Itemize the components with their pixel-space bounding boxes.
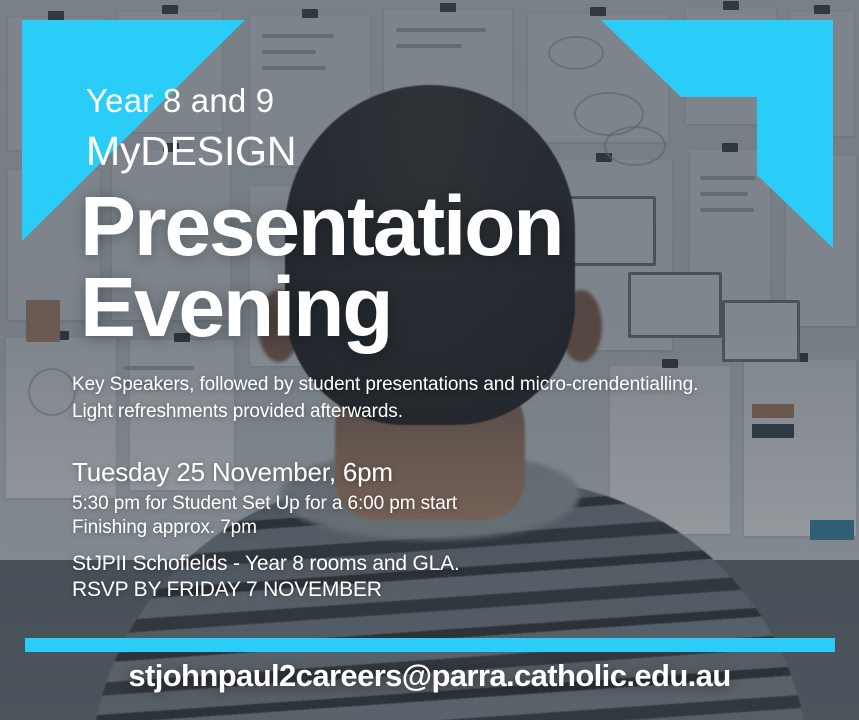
program-brand: MyDESIGN bbox=[86, 131, 296, 172]
poster-canvas: Year 8 and 9 MyDESIGN Presentation Eveni… bbox=[0, 0, 859, 720]
finish-time: Finishing approx. 7pm bbox=[72, 516, 457, 540]
setup-time: 5:30 pm for Student Set Up for a 6:00 pm… bbox=[72, 492, 457, 516]
event-time-details: 5:30 pm for Student Set Up for a 6:00 pm… bbox=[72, 492, 457, 540]
description-line-2: Light refreshments provided afterwards. bbox=[72, 399, 698, 426]
venue-and-rsvp: StJPII Schofields - Year 8 rooms and GLA… bbox=[72, 551, 460, 604]
headline: Presentation Evening bbox=[80, 186, 562, 347]
venue: StJPII Schofields - Year 8 rooms and GLA… bbox=[72, 551, 460, 577]
rsvp-deadline: RSVP BY FRIDAY 7 NOVEMBER bbox=[72, 577, 460, 603]
eyebrow-text: Year 8 and 9 bbox=[86, 84, 274, 117]
headline-line-2: Evening bbox=[80, 267, 562, 348]
headline-line-1: Presentation bbox=[80, 186, 562, 267]
description-line-1: Key Speakers, followed by student presen… bbox=[72, 372, 698, 399]
description: Key Speakers, followed by student presen… bbox=[72, 372, 698, 426]
poster-text: Year 8 and 9 MyDESIGN Presentation Eveni… bbox=[0, 0, 859, 720]
contact-email[interactable]: stjohnpaul2careers@parra.catholic.edu.au bbox=[0, 660, 859, 691]
event-date: Tuesday 25 November, 6pm bbox=[72, 459, 393, 485]
